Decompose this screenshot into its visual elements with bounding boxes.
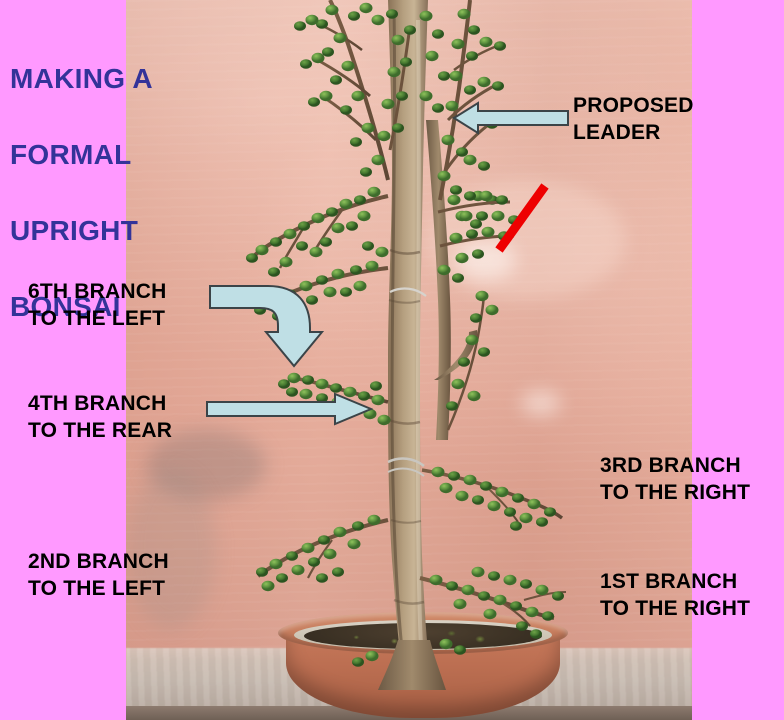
sixth-branch-arrow-icon xyxy=(208,282,324,368)
pruning-cut-line xyxy=(481,178,561,268)
title-line-3: UPRIGHT xyxy=(10,212,240,250)
annotation-label-first-branch-right: 1ST BRANCH TO THE RIGHT xyxy=(600,568,750,622)
second-branch-left xyxy=(256,515,388,591)
third-branch-right xyxy=(422,467,562,531)
trunk-base xyxy=(378,640,446,690)
proposed-leader-arrow-icon xyxy=(452,96,570,140)
annotation-label-sixth-branch-left: 6TH BRANCH TO THE LEFT xyxy=(28,278,167,332)
right-rear-shoot xyxy=(446,291,499,430)
title-line-1: MAKING A xyxy=(10,60,240,98)
poster-canvas: MAKING A FORMAL UPRIGHT BONSAI PROPOSED … xyxy=(0,0,784,720)
annotation-label-proposed-leader: PROPOSED LEADER xyxy=(573,92,694,146)
fourth-branch-arrow-icon xyxy=(205,392,373,426)
title-line-2: FORMAL xyxy=(10,136,240,174)
first-branch-right xyxy=(420,567,566,639)
annotation-label-third-branch-right: 3RD BRANCH TO THE RIGHT xyxy=(600,452,750,506)
annotation-label-second-branch-left: 2ND BRANCH TO THE LEFT xyxy=(28,548,169,602)
annotation-label-fourth-branch-rear: 4TH BRANCH TO THE REAR xyxy=(28,390,172,444)
